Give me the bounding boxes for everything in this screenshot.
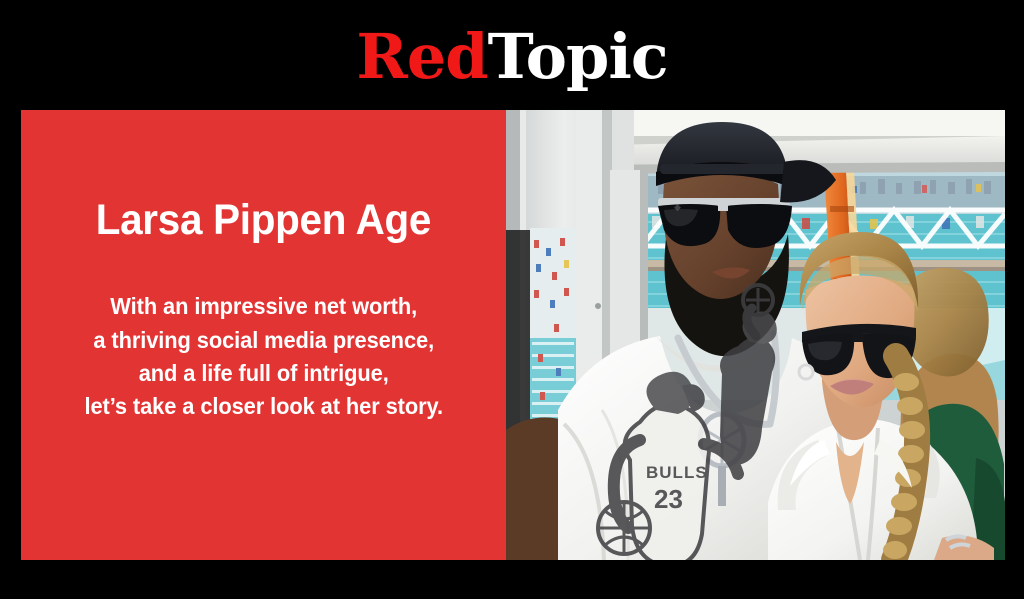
- subtitle-line-3: and a life full of intrigue,: [84, 357, 442, 390]
- svg-text:23: 23: [654, 484, 683, 514]
- site-header: RedTopic: [0, 0, 1024, 110]
- subtitle-line-4: let’s take a closer look at her story.: [84, 390, 442, 423]
- page-subtitle: With an impressive net worth, a thriving…: [84, 290, 442, 423]
- svg-text:◆: ◆: [674, 202, 681, 212]
- logo-text-red: Red: [356, 20, 487, 93]
- subtitle-line-1: With an impressive net worth,: [84, 290, 442, 323]
- article-photo: ◆: [506, 110, 1005, 560]
- site-logo[interactable]: RedTopic: [356, 26, 667, 88]
- logo-text-white: Topic: [488, 20, 668, 93]
- text-panel: Larsa Pippen Age With an impressive net …: [21, 110, 506, 560]
- article-banner: RedTopic Larsa Pippen Age With an impres…: [0, 0, 1024, 599]
- page-title: Larsa Pippen Age: [96, 198, 431, 243]
- subtitle-line-2: a thriving social media presence,: [84, 324, 442, 357]
- banner-content: Larsa Pippen Age With an impressive net …: [21, 110, 1005, 560]
- svg-text:BULLS: BULLS: [646, 463, 708, 482]
- photo-illustration: ◆: [506, 110, 1005, 560]
